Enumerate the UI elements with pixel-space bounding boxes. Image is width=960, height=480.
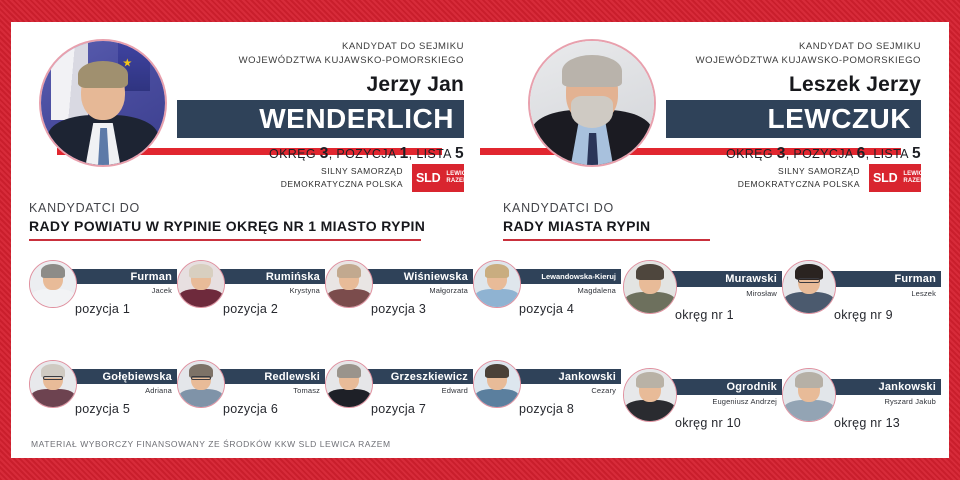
electoral-info-right: OKRĘG 3, POZYCJA 6, LISTA 5 xyxy=(666,145,921,163)
candidate-position: pozycja 5 xyxy=(75,402,130,416)
section-heading: RADY MIASTA RYPIN xyxy=(503,217,833,237)
sld-sub-line-2: RAZEM xyxy=(903,178,927,186)
candidate-position: pozycja 4 xyxy=(519,302,574,316)
sld-sub-line-2: RAZEM xyxy=(446,178,470,186)
sld-logo-subtext: LEWICA RAZEM xyxy=(903,171,927,186)
section-kicker: KANDYDATCI DO xyxy=(29,200,429,217)
candidate-position: pozycja 8 xyxy=(519,402,574,416)
candidate-photo xyxy=(473,360,521,408)
candidate-photo xyxy=(177,260,225,308)
candidate-surname: Grzeszkiewicz xyxy=(391,371,468,383)
candidate-surname: Rumińska xyxy=(266,271,320,283)
candidate-grid-powiat: FurmanJacekpozycja 1RumińskaKrystynapozy… xyxy=(29,260,621,458)
candidate-surname: Lewandowska-Kieruj xyxy=(541,272,616,281)
pozycja-value: 1 xyxy=(400,145,409,162)
candidate-card[interactable]: FurmanJacekpozycja 1 xyxy=(29,260,177,360)
candidate-surname: Furman xyxy=(894,273,936,285)
candidate-photo xyxy=(782,260,836,314)
candidate-photo xyxy=(325,260,373,308)
surname-banner: LEWCZUK xyxy=(666,100,921,138)
section-heading: RADY POWIATU W RYPINIE OKRĘG NR 1 MIASTO… xyxy=(29,217,429,237)
slogan-line-1: SILNY SAMORZĄD xyxy=(281,165,403,178)
slogan-line-2: DEMOKRATYCZNA POLSKA xyxy=(281,178,403,191)
candidate-position: pozycja 6 xyxy=(223,402,278,416)
sld-logo-subtext: LEWICA RAZEM xyxy=(446,171,470,186)
candidate-position: pozycja 1 xyxy=(75,302,130,316)
kicker-line-1: KANDYDAT DO SEJMIKU xyxy=(177,40,464,54)
pozycja-value: 6 xyxy=(857,145,866,162)
candidate-position: okręg nr 10 xyxy=(675,416,741,430)
section-kicker: KANDYDATCI DO xyxy=(503,200,833,217)
candidate-position: okręg nr 9 xyxy=(834,308,893,322)
candidate-position: pozycja 7 xyxy=(371,402,426,416)
section-title-powiat: KANDYDATCI DO RADY POWIATU W RYPINIE OKR… xyxy=(29,200,429,241)
sld-sub-line-1: LEWICA xyxy=(903,171,927,179)
slogan-line-1: SILNY SAMORZĄD xyxy=(738,165,860,178)
candidate-card[interactable]: FurmanLeszekokręg nr 9 xyxy=(782,260,941,368)
okreg-value: 3 xyxy=(777,145,786,162)
candidate-surname: Ogrodnik xyxy=(727,381,778,393)
candidate-surname: Murawski xyxy=(725,273,777,285)
portrait-lewczuk xyxy=(528,39,656,167)
header-text-right: KANDYDAT DO SEJMIKU WOJEWÓDZTWA KUJAWSKO… xyxy=(666,40,921,163)
poster-red-frame: KANDYDAT DO SEJMIKU WOJEWÓDZTWA KUJAWSKO… xyxy=(0,0,960,480)
candidate-firstname: Jerzy Jan xyxy=(177,73,464,96)
candidate-surname: Jankowski xyxy=(879,381,936,393)
party-slogan: SILNY SAMORZĄD DEMOKRATYCZNA POLSKA xyxy=(281,165,403,191)
lista-value: 5 xyxy=(912,145,921,162)
lista-value: 5 xyxy=(455,145,464,162)
candidate-photo xyxy=(177,360,225,408)
electoral-info-left: OKRĘG 3, POZYCJA 1, LISTA 5 xyxy=(177,145,464,163)
candidate-card[interactable]: OgrodnikEugeniusz Andrzejokręg nr 10 xyxy=(623,368,782,458)
sld-logo-text: SLD xyxy=(869,171,897,185)
candidate-surname: Gołębiewska xyxy=(103,371,172,383)
candidate-surname: WENDERLICH xyxy=(259,103,454,134)
candidate-card[interactable]: Lewandowska-KierujMagdalenapozycja 4 xyxy=(473,260,621,360)
candidate-card[interactable]: WiśniewskaMałgorzatapozycja 3 xyxy=(325,260,473,360)
candidate-card[interactable]: JankowskiRyszard Jakubokręg nr 13 xyxy=(782,368,941,458)
header-lewczuk: KANDYDAT DO SEJMIKU WOJEWÓDZTWA KUJAWSKO… xyxy=(480,22,949,194)
lista-label: LISTA xyxy=(873,147,908,161)
slogan-row-left: SILNY SAMORZĄD DEMOKRATYCZNA POLSKA SLD … xyxy=(281,164,464,192)
surname-banner: WENDERLICH xyxy=(177,100,464,138)
sld-logo: SLD LEWICA RAZEM xyxy=(869,164,921,192)
candidate-position: okręg nr 13 xyxy=(834,416,900,430)
kicker-line-2: WOJEWÓDZTWA KUJAWSKO-POMORSKIEGO xyxy=(666,54,921,68)
section-rule xyxy=(503,239,710,241)
candidate-card[interactable]: JankowskiCezarypozycja 8 xyxy=(473,360,621,458)
okreg-label: OKRĘG xyxy=(726,147,773,161)
sld-sub-line-1: LEWICA xyxy=(446,171,470,179)
candidate-photo xyxy=(473,260,521,308)
slogan-line-2: DEMOKRATYCZNA POLSKA xyxy=(738,178,860,191)
party-slogan: SILNY SAMORZĄD DEMOKRATYCZNA POLSKA xyxy=(738,165,860,191)
slogan-row-right: SILNY SAMORZĄD DEMOKRATYCZNA POLSKA SLD … xyxy=(738,164,921,192)
candidate-position: pozycja 2 xyxy=(223,302,278,316)
candidate-photo xyxy=(29,360,77,408)
candidate-grid-miasto: MurawskiMirosławokręg nr 1FurmanLeszekok… xyxy=(623,260,941,458)
section-rule xyxy=(29,239,421,241)
candidate-surname: Jankowski xyxy=(559,371,616,383)
candidate-photo xyxy=(782,368,836,422)
portrait-wenderlich xyxy=(39,39,167,167)
candidate-photo xyxy=(29,260,77,308)
poster-white-sheet: KANDYDAT DO SEJMIKU WOJEWÓDZTWA KUJAWSKO… xyxy=(11,22,949,458)
candidate-firstname: Leszek Jerzy xyxy=(666,73,921,96)
kicker-line-2: WOJEWÓDZTWA KUJAWSKO-POMORSKIEGO xyxy=(177,54,464,68)
okreg-value: 3 xyxy=(320,145,329,162)
candidate-surname: LEWCZUK xyxy=(768,103,911,134)
kicker-line-1: KANDYDAT DO SEJMIKU xyxy=(666,40,921,54)
header-text-left: KANDYDAT DO SEJMIKU WOJEWÓDZTWA KUJAWSKO… xyxy=(177,40,464,163)
header-wenderlich: KANDYDAT DO SEJMIKU WOJEWÓDZTWA KUJAWSKO… xyxy=(11,22,480,194)
section-title-miasto: KANDYDATCI DO RADY MIASTA RYPIN xyxy=(503,200,833,241)
candidate-position: pozycja 3 xyxy=(371,302,426,316)
candidate-photo xyxy=(623,368,677,422)
candidate-card[interactable]: RumińskaKrystynapozycja 2 xyxy=(177,260,325,360)
candidate-surname: Wiśniewska xyxy=(404,271,468,283)
candidate-surname: Furman xyxy=(130,271,172,283)
pozycja-label: POZYCJA xyxy=(793,147,852,161)
candidate-photo xyxy=(623,260,677,314)
sld-logo-text: SLD xyxy=(412,171,440,185)
candidate-photo xyxy=(325,360,373,408)
sld-logo: SLD LEWICA RAZEM xyxy=(412,164,464,192)
footer-disclaimer: MATERIAŁ WYBORCZY FINANSOWANY ZE ŚRODKÓW… xyxy=(31,439,391,449)
lista-label: LISTA xyxy=(416,147,451,161)
candidate-surname: Redlewski xyxy=(264,371,320,383)
okreg-label: OKRĘG xyxy=(269,147,316,161)
candidate-position: okręg nr 1 xyxy=(675,308,734,322)
candidate-headers: KANDYDAT DO SEJMIKU WOJEWÓDZTWA KUJAWSKO… xyxy=(11,22,949,194)
pozycja-label: POZYCJA xyxy=(336,147,395,161)
candidate-card[interactable]: MurawskiMirosławokręg nr 1 xyxy=(623,260,782,368)
